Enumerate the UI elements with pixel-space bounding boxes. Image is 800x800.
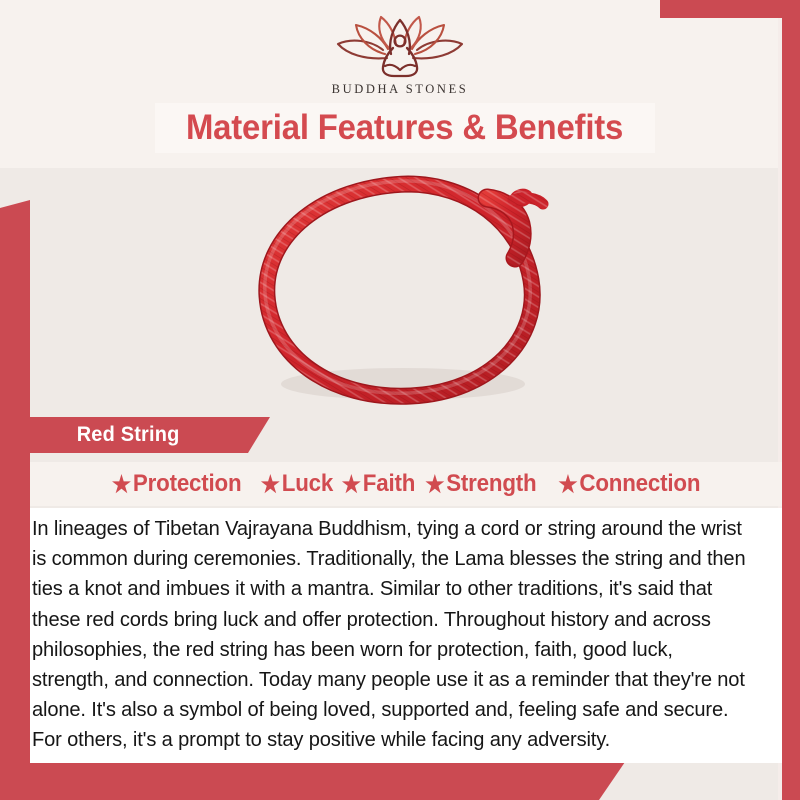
bottom-red-band xyxy=(0,762,625,800)
feature-item-luck: ★ Luck xyxy=(261,470,333,498)
brand-name: BUDDHA STONES xyxy=(0,82,800,97)
feature-label: Faith xyxy=(363,470,415,498)
product-label-banner: Red String xyxy=(22,417,270,453)
description-block: In lineages of Tibetan Vajrayana Buddhis… xyxy=(30,508,782,763)
star-icon: ★ xyxy=(425,473,444,496)
feature-item-protection: ★ Protection xyxy=(112,470,242,498)
title-banner: Material Features & Benefits xyxy=(155,103,655,153)
product-label: Red String xyxy=(77,423,180,447)
star-icon: ★ xyxy=(112,473,131,496)
feature-label: Connection xyxy=(579,470,700,498)
product-image-area xyxy=(30,168,782,418)
feature-label: Luck xyxy=(282,470,333,498)
feature-label: Protection xyxy=(133,470,242,498)
feature-item-connection: ★ Connection xyxy=(558,470,700,498)
page-title: Material Features & Benefits xyxy=(186,108,623,148)
left-red-strip xyxy=(0,200,30,800)
star-icon: ★ xyxy=(558,473,577,496)
feature-item-strength: ★ Strength xyxy=(425,470,536,498)
lotus-meditation-icon xyxy=(325,14,475,80)
infographic-page: BUDDHA STONES Material Features & Benefi… xyxy=(0,0,800,800)
star-icon: ★ xyxy=(342,473,361,496)
star-icon: ★ xyxy=(261,473,280,496)
feature-label: Strength xyxy=(446,470,536,498)
right-red-strip xyxy=(782,0,800,800)
description-text: In lineages of Tibetan Vajrayana Buddhis… xyxy=(32,514,753,756)
red-string-bracelet-image xyxy=(225,170,585,420)
feature-list: ★ Protection ★ Luck ★ Faith ★ Strength ★… xyxy=(30,462,782,506)
brand-logo: BUDDHA STONES xyxy=(0,14,800,97)
feature-item-faith: ★ Faith xyxy=(342,470,415,498)
